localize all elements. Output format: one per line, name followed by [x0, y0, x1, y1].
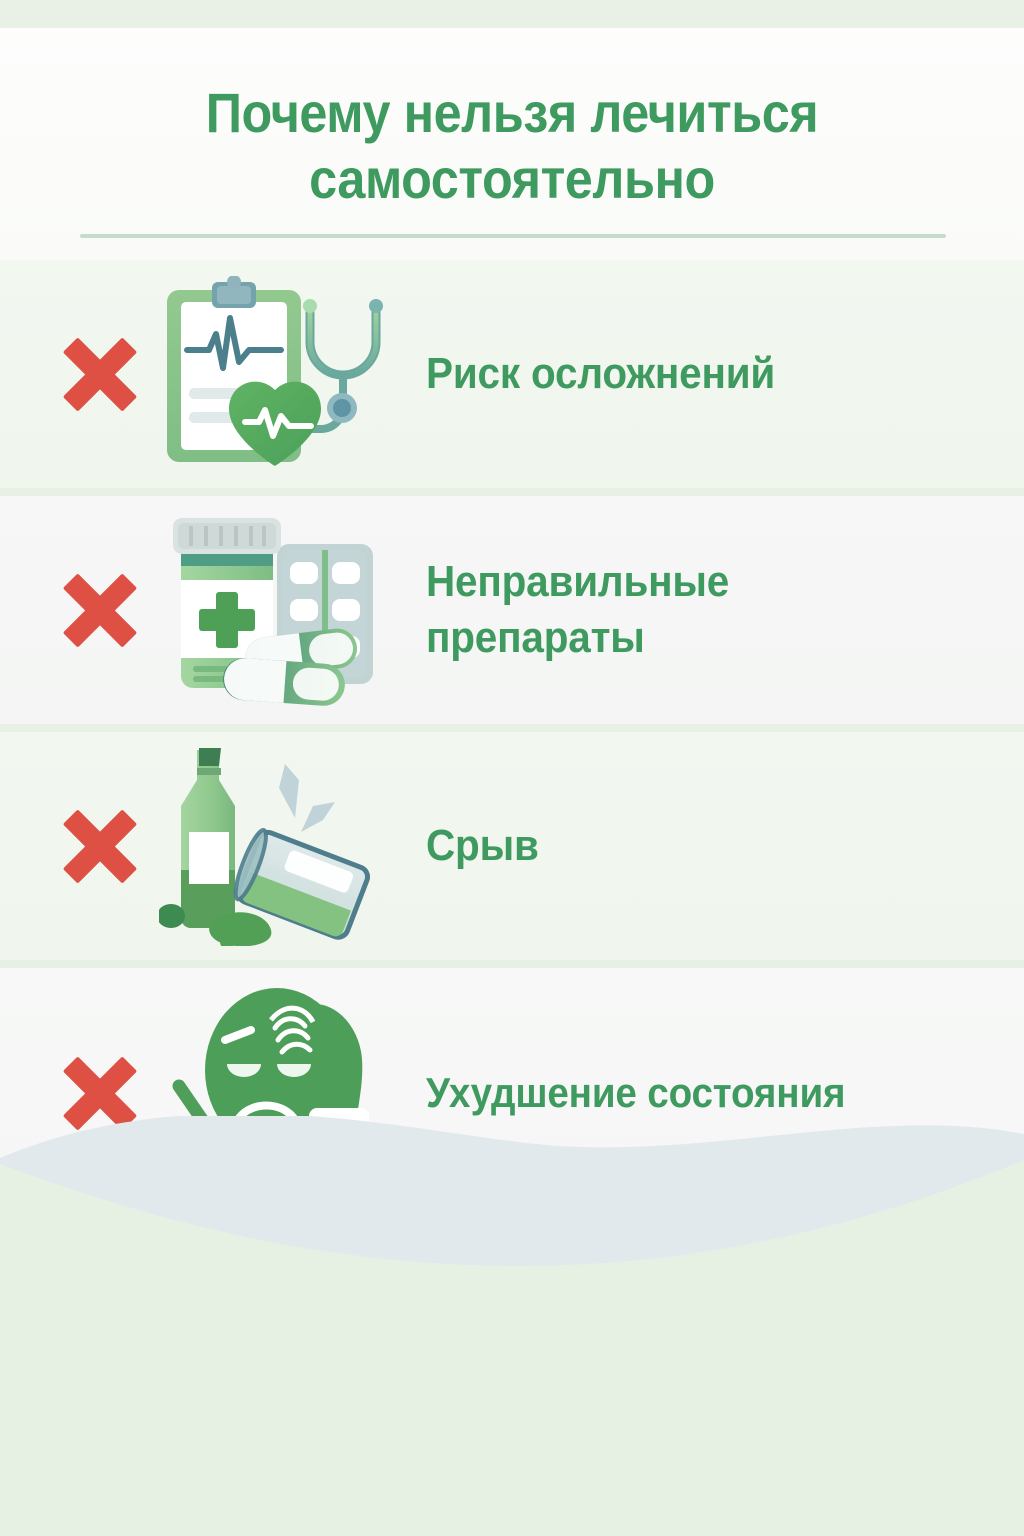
- poster-root: Почему нельзя лечиться самостоятельно: [0, 0, 1024, 1536]
- x-mark-icon: [54, 328, 146, 420]
- x-mark-icon: [54, 1047, 146, 1139]
- sad-person-falling-chart-icon: [152, 988, 402, 1198]
- list-item-label: Риск осложнений: [426, 346, 976, 402]
- pill-bottle-blister-capsules-icon: [152, 505, 402, 715]
- list-item[interactable]: Неправильные препараты: [0, 496, 1024, 724]
- title-divider: [80, 234, 946, 238]
- medical-clipboard-heart-stethoscope-icon: [152, 269, 402, 479]
- list-item-label: Неправильные препараты: [426, 554, 976, 667]
- list-item-label: Ухудшение состояния: [426, 1066, 976, 1120]
- list-item[interactable]: Срыв: [0, 732, 1024, 960]
- x-mark-icon: [54, 800, 146, 892]
- header-card: Почему нельзя лечиться самостоятельно: [0, 28, 1024, 260]
- list-item[interactable]: Риск осложнений: [0, 260, 1024, 488]
- x-mark-icon: [54, 564, 146, 656]
- bottle-spilled-glass-icon: [152, 741, 402, 951]
- list-item[interactable]: Ухудшение состояния: [0, 968, 1024, 1218]
- page-title: Почему нельзя лечиться самостоятельно: [51, 28, 973, 212]
- list-item-label: Срыв: [426, 818, 976, 874]
